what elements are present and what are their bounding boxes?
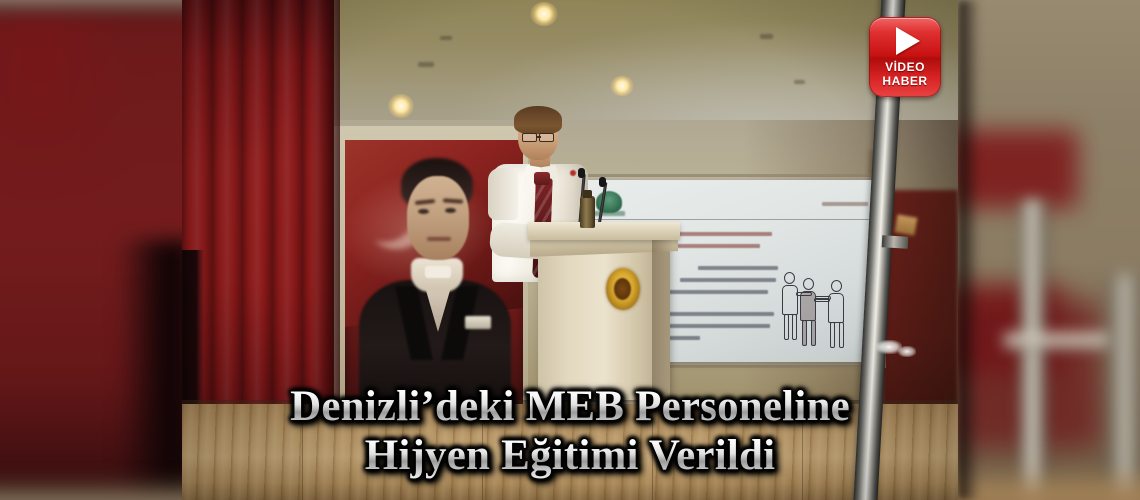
ceiling-vent	[794, 80, 805, 84]
stage-floor	[182, 404, 958, 500]
pole-joint	[882, 235, 909, 248]
podium-top-surface	[528, 222, 680, 240]
play-triangle-icon	[896, 27, 920, 55]
backdrop-right-crossbar	[1004, 332, 1114, 350]
floor-seam	[802, 404, 803, 500]
ceiling-vent	[440, 36, 452, 40]
speaker-tie-knot	[534, 172, 550, 185]
slide-divider	[592, 219, 870, 220]
video-haber-badge[interactable]: VİDEO HABER	[869, 17, 941, 97]
ceiling-vent	[760, 34, 773, 39]
speaker-eyeglass-right	[539, 133, 554, 142]
slide-illustration	[776, 268, 862, 354]
ceiling-light	[388, 94, 414, 118]
speaker-eyeglass-bridge	[536, 136, 541, 138]
speaker-hair	[514, 106, 562, 134]
slide-text-line	[698, 266, 778, 270]
blurred-backdrop-left	[0, 0, 182, 500]
portrait-medal	[465, 316, 491, 329]
portrait-eye	[445, 208, 456, 213]
backdrop-right-floor-blur	[958, 470, 1140, 500]
badge-label-video: VİDEO	[885, 61, 925, 74]
slide-logo-caption	[593, 211, 625, 216]
backdrop-right-pole-1	[1020, 200, 1046, 500]
floor-seam	[482, 404, 483, 500]
backdrop-right-pole-2	[1110, 275, 1140, 500]
backdrop-right-edge-shadow	[958, 0, 980, 500]
speaker-shoulder	[488, 168, 518, 220]
slide-text-line	[676, 244, 760, 248]
backdrop-left-dark-strip	[118, 240, 182, 500]
floor-seam	[302, 404, 303, 500]
backdrop-left-ceiling-blur	[0, 0, 182, 12]
backdrop-left-floor-blur	[0, 480, 182, 500]
microphone-indicator-light	[570, 170, 576, 176]
portrait-face	[407, 176, 469, 260]
water-bottle	[580, 196, 595, 228]
microphone-head	[578, 168, 585, 178]
speaker-eyeglass-left	[522, 133, 537, 142]
pole-highlight	[898, 346, 916, 357]
news-article-image: VİDEO HABER Denizli’deki MEB Personeline…	[0, 0, 1140, 500]
floor-seam	[652, 404, 653, 500]
ceiling-light	[610, 76, 634, 96]
microphone-head	[599, 177, 606, 187]
ceiling-vent	[418, 62, 434, 67]
podium-emblem-center	[614, 278, 631, 300]
slide-text-line	[680, 278, 776, 282]
blurred-backdrop-right	[958, 0, 1140, 500]
photo-main-region	[182, 0, 958, 500]
ceiling-light	[530, 2, 558, 26]
slide-header-text	[822, 202, 868, 206]
portrait-mouth	[427, 237, 451, 241]
portrait-eye	[418, 209, 429, 214]
water-bottle-cap	[583, 190, 592, 198]
pole-strap	[895, 214, 918, 235]
badge-label-haber: HABER	[882, 75, 927, 88]
portrait-bowtie	[425, 266, 451, 278]
